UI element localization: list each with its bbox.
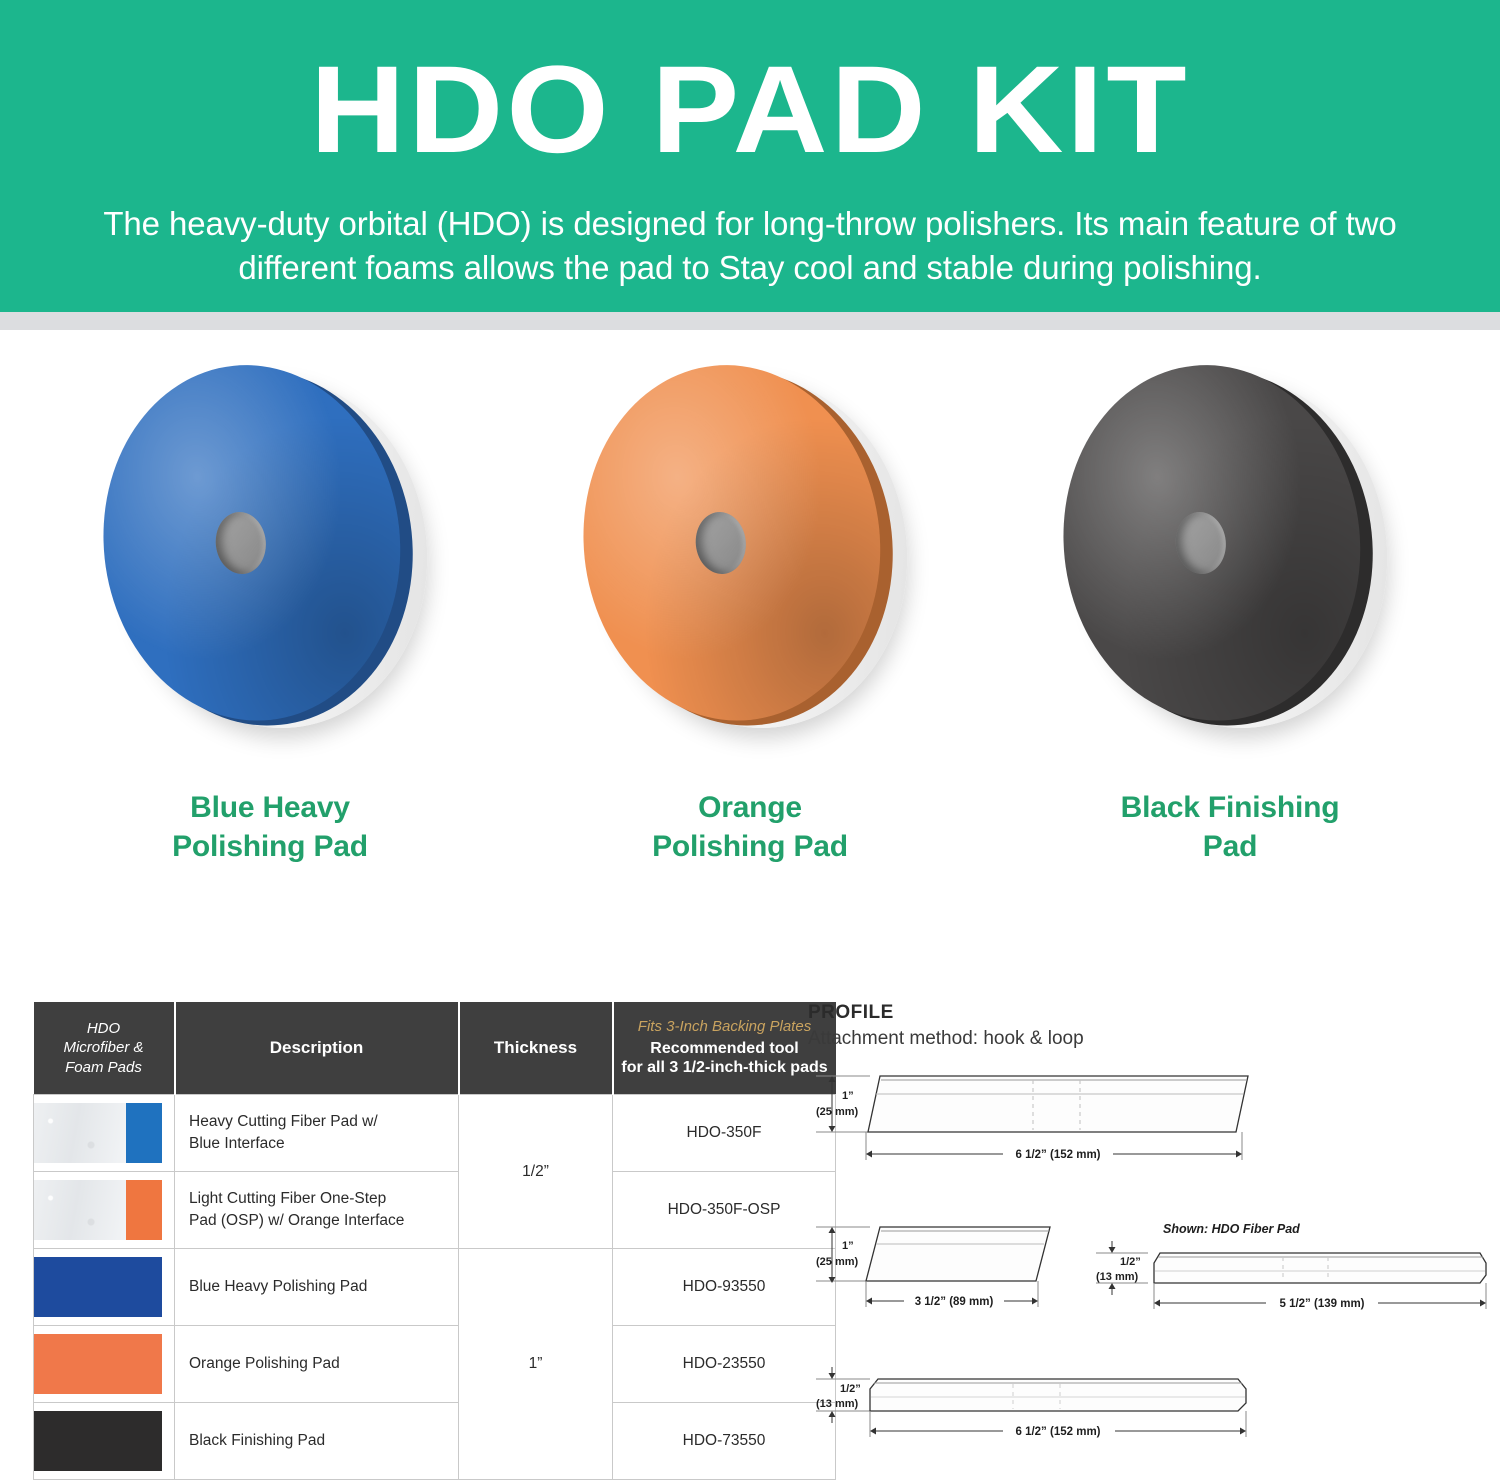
row-swatch (34, 1172, 175, 1249)
row-thickness: 1/2” (459, 1095, 613, 1249)
column-header-recommended-tool: Fits 3-Inch Backing Plates Recommended t… (613, 1002, 836, 1095)
pad-image-blue (20, 348, 520, 778)
row-product-code: HDO-93550 (613, 1249, 836, 1326)
table-row: Light Cutting Fiber One-Step Pad (OSP) w… (34, 1172, 836, 1249)
page-title: HDO PAD KIT (0, 48, 1500, 172)
height-label-line2: (13 mm) (816, 1398, 859, 1410)
interface-portion (126, 1103, 162, 1163)
pad-image-orange (500, 348, 1000, 778)
recommended-tool-line1: Recommended tool (620, 1039, 830, 1059)
diagram-row-2: 1” (25 mm) 3 1/2” (89 mm) Shown: HDO Fib… (808, 1211, 1498, 1331)
swatch-fiber-blue (34, 1103, 162, 1163)
pad-label-line2: Polishing Pad (172, 830, 368, 863)
profile-heading: PROFILE (808, 1002, 894, 1024)
pad-label-orange: Orange Polishing Pad (500, 788, 1000, 866)
attachment-method-text: Attachment method: hook & loop (808, 1028, 1084, 1050)
column-header-thickness: Thickness (459, 1002, 613, 1095)
pad-center-hole (693, 510, 749, 577)
header-line1: HDO (87, 1020, 120, 1037)
pad-showcase: Blue Heavy Polishing Pad Orange Polishin… (0, 348, 1500, 908)
row-product-code: HDO-23550 (613, 1326, 836, 1403)
height-label-line1: 1/2” (1120, 1256, 1141, 1268)
desc-line2: Pad (OSP) w/ Orange Interface (189, 1212, 404, 1229)
header-line3: Foam Pads (65, 1059, 142, 1076)
row-swatch (34, 1403, 175, 1480)
pad-label-line2: Pad (1203, 830, 1257, 863)
row-description: Orange Polishing Pad (175, 1326, 459, 1403)
table-header-row: HDO Microfiber & Foam Pads Description T… (34, 1002, 836, 1095)
row-description: Blue Heavy Polishing Pad (175, 1249, 459, 1326)
height-label-line1: 1” (842, 1240, 854, 1252)
swatch-solid-orange (34, 1334, 162, 1394)
width-label: 6 1/2” (152 mm) (1015, 1426, 1100, 1438)
pad-center-hole (1173, 510, 1229, 577)
header-line2: Microfiber & (63, 1039, 143, 1056)
header-divider (0, 312, 1500, 330)
pad-label-line1: Orange (698, 791, 802, 824)
pad-card-orange: Orange Polishing Pad (500, 348, 1000, 908)
page-header: HDO PAD KIT The heavy-duty orbital (HDO)… (0, 0, 1500, 312)
column-header-swatch: HDO Microfiber & Foam Pads (34, 1002, 175, 1095)
desc-line1: Light Cutting Fiber One-Step (189, 1190, 386, 1207)
width-label: 5 1/2” (139 mm) (1279, 1298, 1364, 1310)
solid-portion (34, 1334, 162, 1394)
row-description: Heavy Cutting Fiber Pad w/ Blue Interfac… (175, 1095, 459, 1172)
pad-center-hole (213, 510, 269, 577)
pad-image-black (980, 348, 1480, 778)
row-description: Black Finishing Pad (175, 1403, 459, 1480)
table-row: Heavy Cutting Fiber Pad w/ Blue Interfac… (34, 1095, 836, 1172)
swatch-solid-blue (34, 1257, 162, 1317)
desc-line2: Blue Interface (189, 1135, 285, 1152)
profile-section: PROFILE Attachment method: hook & loop 1… (808, 1002, 1498, 1382)
spec-table-container: HDO Microfiber & Foam Pads Description T… (33, 1002, 781, 1480)
width-label: 6 1/2” (152 mm) (1015, 1149, 1100, 1161)
height-label-line2: (13 mm) (1096, 1271, 1139, 1283)
row-thickness: 1” (459, 1249, 613, 1480)
pad-label-line1: Black Finishing (1121, 791, 1340, 824)
column-header-description: Description (175, 1002, 459, 1095)
table-row: Orange Polishing Pad HDO-23550 (34, 1326, 836, 1403)
profile-diagrams: 1” (25 mm) 6 1/2” (152 mm) 1” (808, 1054, 1498, 1384)
row-swatch (34, 1249, 175, 1326)
fiber-portion (34, 1180, 126, 1240)
diagram-note: Shown: HDO Fiber Pad (1163, 1222, 1300, 1236)
width-label: 3 1/2” (89 mm) (915, 1296, 994, 1308)
row-description: Light Cutting Fiber One-Step Pad (OSP) w… (175, 1172, 459, 1249)
height-label-line1: 1” (842, 1090, 854, 1102)
diagram-large-foam-pad: 1” (25 mm) 6 1/2” (152 mm) (808, 1054, 1268, 1179)
pad-label-black: Black Finishing Pad (980, 788, 1480, 866)
diagram-large-fiber-pad: 1/2” (13 mm) 6 1/2” (152 mm) (808, 1353, 1268, 1453)
swatch-solid-black (34, 1411, 162, 1471)
height-label-line1: 1/2” (840, 1383, 861, 1395)
spec-table: HDO Microfiber & Foam Pads Description T… (33, 1002, 836, 1480)
table-row: Black Finishing Pad HDO-73550 (34, 1403, 836, 1480)
recommended-tool-line2: for all 3 1/2-inch-thick pads (620, 1058, 830, 1078)
pad-label-line1: Blue Heavy (190, 791, 350, 824)
height-label-line2: (25 mm) (816, 1106, 859, 1118)
row-swatch (34, 1095, 175, 1172)
desc-line1: Heavy Cutting Fiber Pad w/ (189, 1113, 378, 1130)
solid-portion (34, 1257, 162, 1317)
row-swatch (34, 1326, 175, 1403)
row-product-code: HDO-350F (613, 1095, 836, 1172)
pad-label-line2: Polishing Pad (652, 830, 848, 863)
backing-plate-note: Fits 3-Inch Backing Plates (620, 1018, 830, 1037)
height-label-line2: (25 mm) (816, 1256, 859, 1268)
table-row: Blue Heavy Polishing Pad 1” HDO-93550 (34, 1249, 836, 1326)
page-subtitle: The heavy-duty orbital (HDO) is designed… (50, 202, 1450, 289)
interface-portion (126, 1180, 162, 1240)
pad-card-blue: Blue Heavy Polishing Pad (20, 348, 520, 908)
fiber-portion (34, 1103, 126, 1163)
swatch-fiber-orange (34, 1180, 162, 1240)
solid-portion (34, 1411, 162, 1471)
pad-label-blue: Blue Heavy Polishing Pad (20, 788, 520, 866)
row-product-code: HDO-73550 (613, 1403, 836, 1480)
row-product-code: HDO-350F-OSP (613, 1172, 836, 1249)
pad-card-black: Black Finishing Pad (980, 348, 1480, 908)
